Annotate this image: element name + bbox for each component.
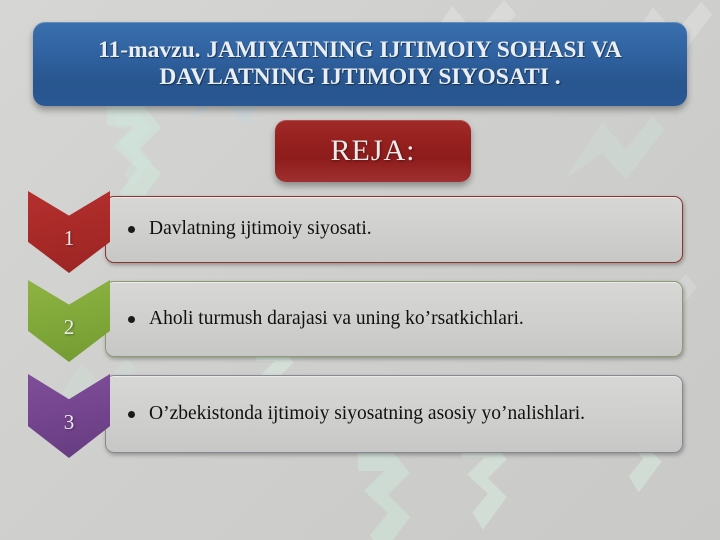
chevron-marker-3: 3 [28, 374, 110, 458]
bullet-dot-icon [128, 411, 135, 418]
chevron-number: 3 [64, 410, 75, 435]
agenda-item-text: Davlatning ijtimoiy siyosati. [149, 217, 669, 242]
agenda-item-text: O’zbekistonda ijtimoiy siyosatning asosi… [149, 402, 669, 427]
bullet-dot-icon [128, 226, 135, 233]
agenda-textbox-3: O’zbekistonda ijtimoiy siyosatning asosi… [105, 375, 683, 453]
watermark-logo-icon [330, 442, 430, 540]
bullet-dot-icon [128, 316, 135, 323]
reja-badge: REJA: [275, 120, 471, 182]
watermark-arrow-icon [556, 110, 672, 194]
bullet-line: Aholi turmush darajasi va uning ko’rsatk… [119, 307, 669, 332]
bullet-line: Davlatning ijtimoiy siyosati. [119, 217, 669, 242]
slide-canvas: 11-mavzu. JAMIYATNING IJTIMOIY SOHASI VA… [0, 0, 720, 540]
agenda-textbox-2: Aholi turmush darajasi va uning ko’rsatk… [105, 281, 683, 357]
bullet-line: O’zbekistonda ijtimoiy siyosatning asosi… [119, 402, 669, 427]
chevron-marker-1: 1 [28, 191, 110, 273]
agenda-textbox-1: Davlatning ijtimoiy siyosati. [105, 196, 683, 263]
chevron-marker-2: 2 [28, 280, 110, 362]
agenda-item-text: Aholi turmush darajasi va uning ko’rsatk… [149, 307, 669, 332]
chevron-number: 1 [64, 226, 75, 251]
slide-title-banner: 11-mavzu. JAMIYATNING IJTIMOIY SOHASI VA… [33, 22, 687, 106]
page-title: 11-mavzu. JAMIYATNING IJTIMOIY SOHASI VA… [33, 37, 687, 92]
watermark-logo-icon [96, 108, 166, 194]
chevron-number: 2 [64, 315, 75, 340]
reja-label: REJA: [330, 134, 415, 168]
